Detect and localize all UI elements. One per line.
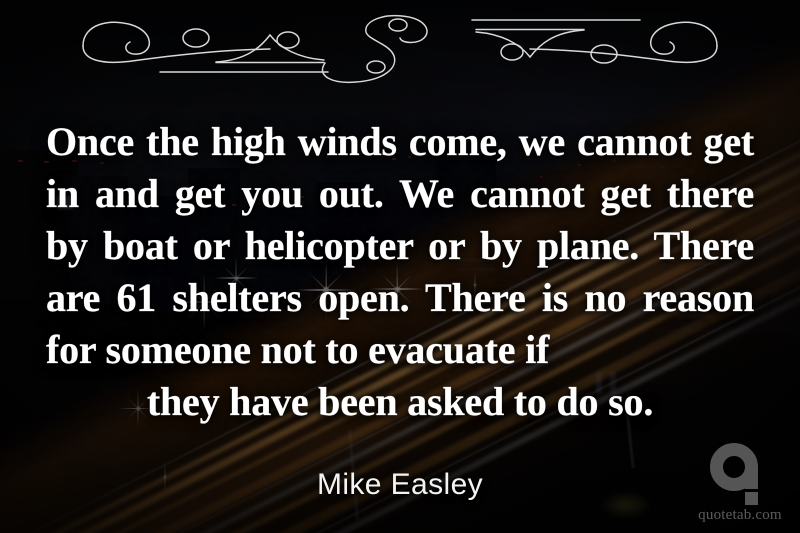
quotetab-watermark[interactable]: quotetab.com [692,443,788,527]
logo-q-stem [745,467,758,489]
quotetab-logo-icon [704,443,776,505]
watermark-site-label: quotetab.com [692,507,788,524]
quote-author: Mike Easley [0,468,800,502]
quote-body: Once the high winds come, we cannot get … [46,119,754,372]
quote-image-canvas: Once the high winds come, we cannot get … [0,0,800,533]
quote-last-line: they have been asked to do so. [46,376,754,428]
logo-q-dot [745,492,758,505]
flourish-ornament-icon [80,8,720,84]
quote-text: Once the high winds come, we cannot get … [46,116,754,428]
